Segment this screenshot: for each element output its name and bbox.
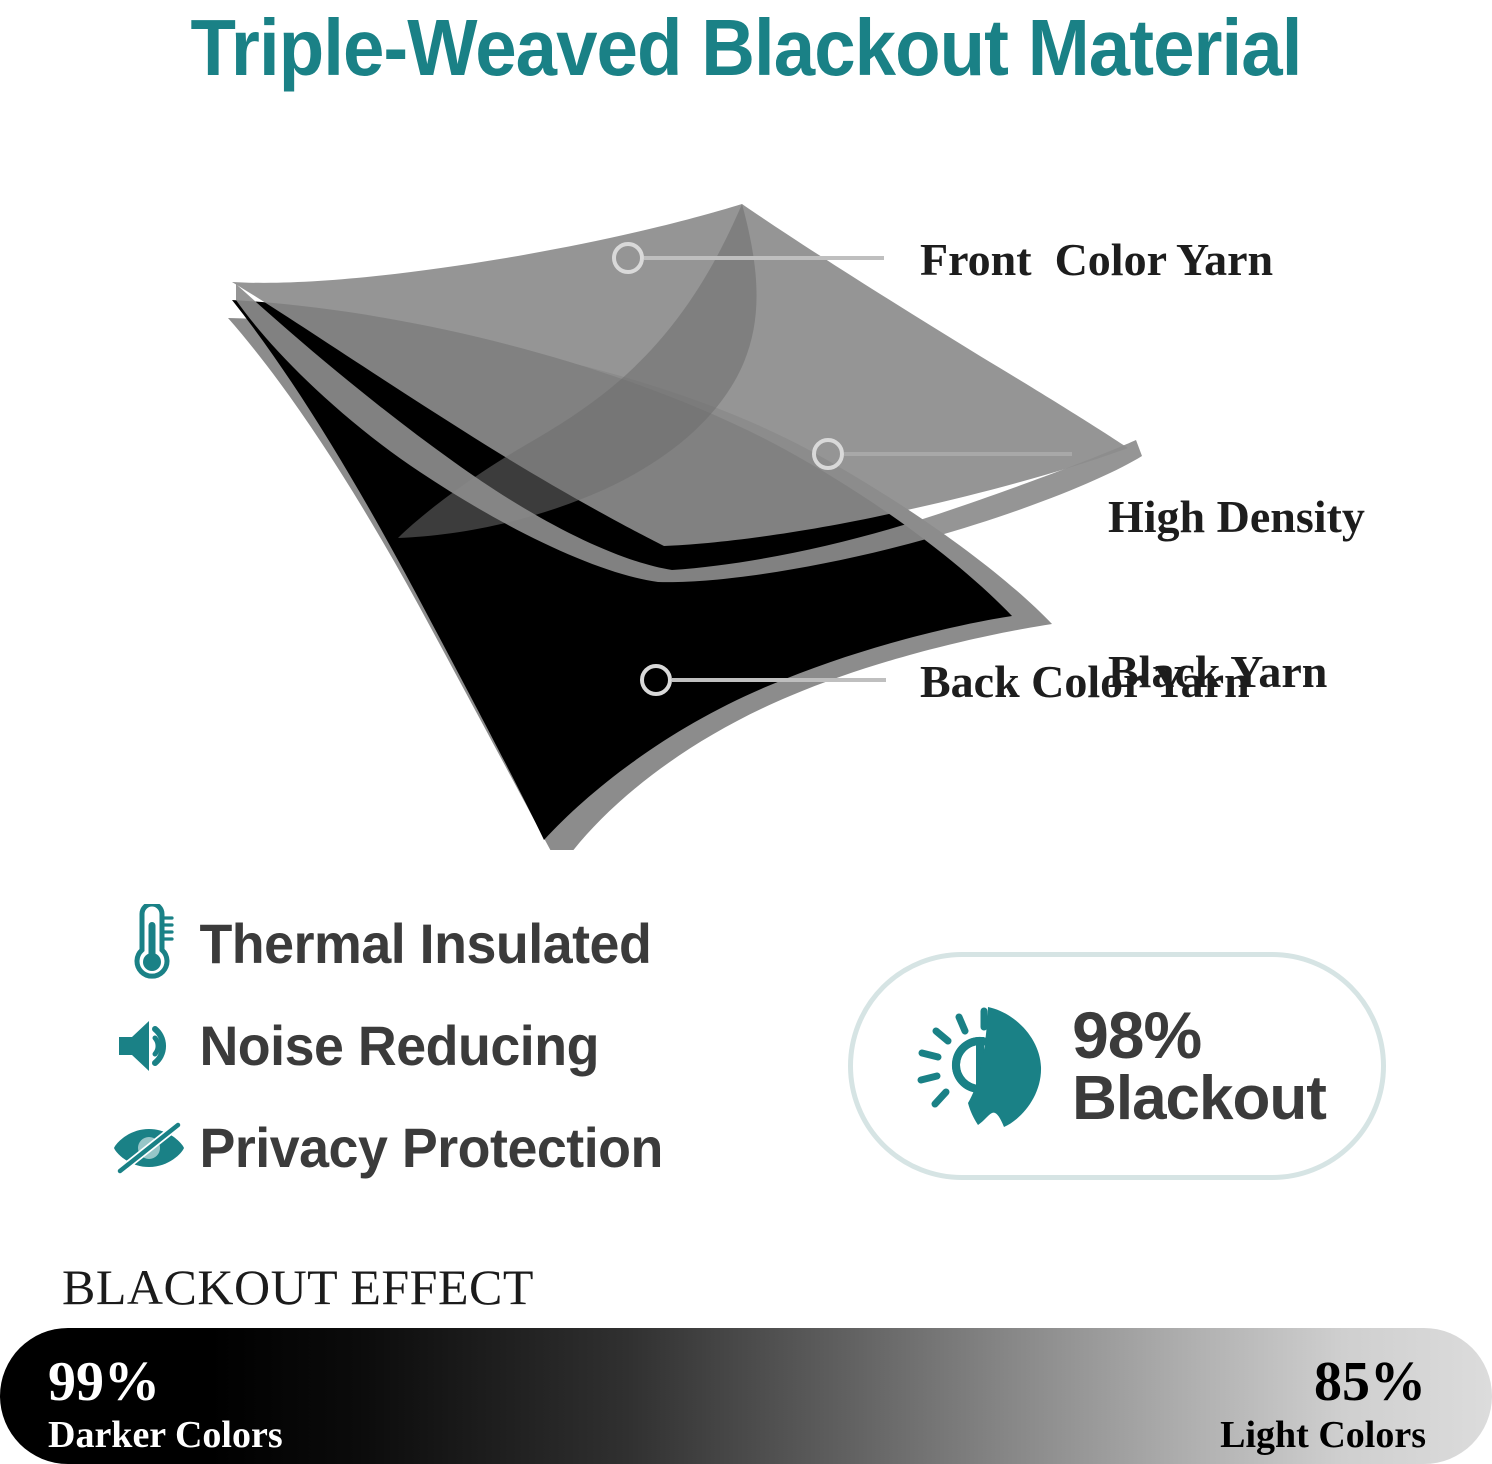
darker-colors-caption: Darker Colors (48, 1416, 283, 1454)
callout-hd-line1: High Density (1108, 491, 1365, 543)
blackout-badge-text: 98% Blackout (1072, 1002, 1326, 1130)
speaker-volume-icon (112, 1006, 186, 1086)
feature-label-thermal-insulated: Thermal Insulated (186, 914, 651, 974)
feature-item-privacy-protection: Privacy Protection (112, 1102, 812, 1194)
feature-label-privacy-protection: Privacy Protection (186, 1118, 663, 1178)
page-title: Triple-Weaved Blackout Material (52, 2, 1440, 94)
feature-item-noise-reducing: Noise Reducing (112, 1000, 812, 1092)
callout-dot-back (642, 666, 670, 694)
light-colors-caption: Light Colors (1220, 1416, 1426, 1454)
blackout-percentage-badge: 98% Blackout (848, 952, 1386, 1180)
callout-label-front-color-yarn: Front Color Yarn (920, 234, 1273, 286)
gradient-bar-right-stat: 85% Light Colors (1220, 1354, 1426, 1454)
feature-list: Thermal Insulated Noise Reducing Privacy… (112, 898, 812, 1204)
blackout-percent-value: 98% (1072, 1002, 1326, 1068)
feature-item-thermal-insulated: Thermal Insulated (112, 898, 812, 990)
callout-dot-front (614, 244, 642, 272)
darker-colors-percent: 99% (48, 1354, 283, 1410)
fabric-layer-diagram: Front Color Yarn High Density Black Yarn… (0, 150, 1492, 850)
callout-label-back-color-yarn: Back Color Yarn (920, 656, 1250, 708)
eye-slash-icon (112, 1108, 186, 1188)
blackout-effect-heading: BLACKOUT EFFECT (62, 1258, 534, 1316)
feature-label-noise-reducing: Noise Reducing (186, 1016, 599, 1076)
blackout-word-label: Blackout (1072, 1068, 1326, 1130)
light-colors-percent: 85% (1220, 1354, 1426, 1410)
sun-behind-curtain-icon (908, 991, 1058, 1141)
callout-dot-highdensity (814, 440, 842, 468)
thermometer-icon (112, 904, 186, 984)
callout-label-high-density-black-yarn: High Density Black Yarn (1108, 388, 1365, 800)
gradient-bar-left-stat: 99% Darker Colors (48, 1354, 283, 1454)
blackout-effect-gradient-bar: 99% Darker Colors 85% Light Colors (0, 1328, 1492, 1464)
